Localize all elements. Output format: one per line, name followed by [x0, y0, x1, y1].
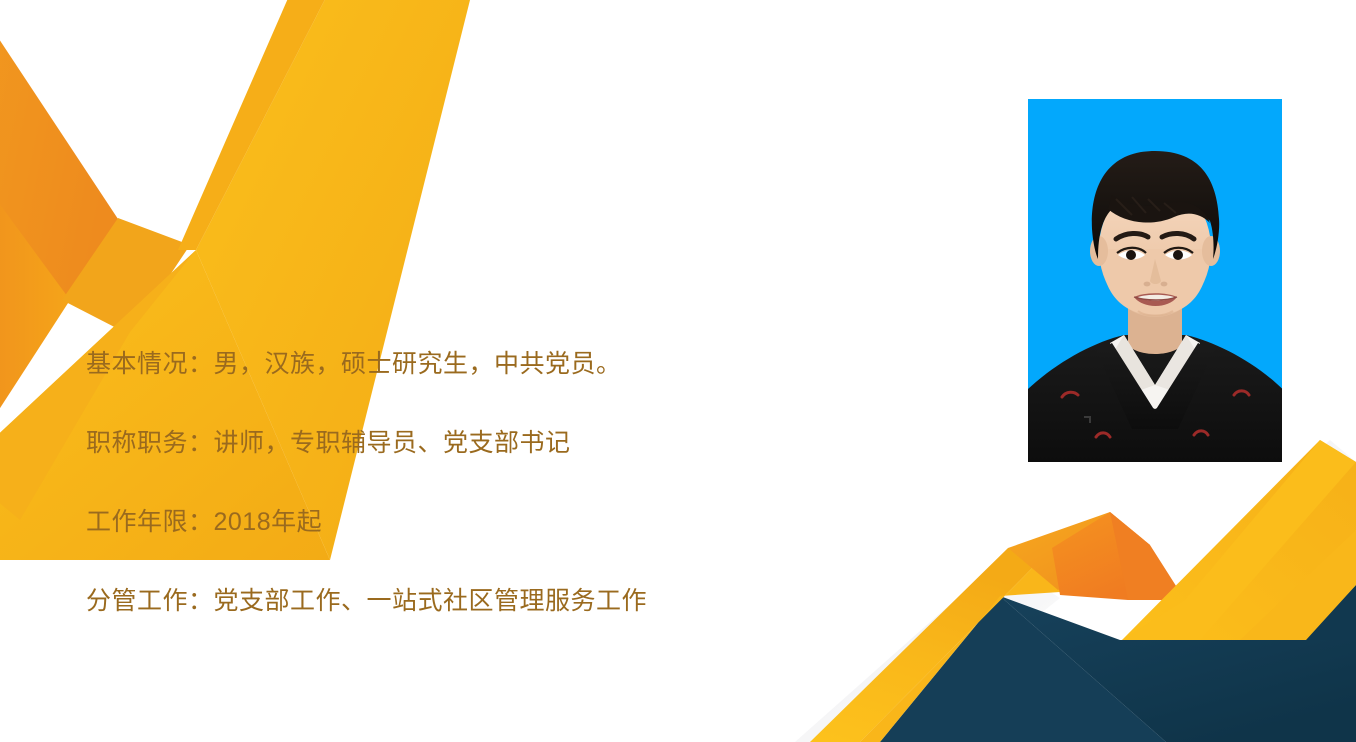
mountain-right-ribbon	[1122, 440, 1356, 640]
mountain-orange-peak	[1008, 512, 1185, 600]
portrait-photo	[1028, 99, 1282, 462]
slide-canvas: 基本情况：男，汉族，硕士研究生，中共党员。 职称职务：讲师，专职辅导员、党支部书…	[0, 0, 1356, 742]
info-line-responsibilities: 分管工作：党支部工作、一站式社区管理服务工作	[86, 589, 866, 614]
mountain-soft-shadow	[795, 440, 1356, 742]
profile-info-block: 基本情况：男，汉族，硕士研究生，中共党员。 职称职务：讲师，专职辅导员、党支部书…	[86, 352, 866, 614]
info-line-years-of-work: 工作年限：2018年起	[86, 510, 866, 535]
info-line-title-position: 职称职务：讲师，专职辅导员、党支部书记	[86, 431, 866, 456]
info-line-basic-situation: 基本情况：男，汉族，硕士研究生，中共党员。	[86, 352, 866, 377]
mountain-navy-shadow	[880, 585, 1356, 742]
